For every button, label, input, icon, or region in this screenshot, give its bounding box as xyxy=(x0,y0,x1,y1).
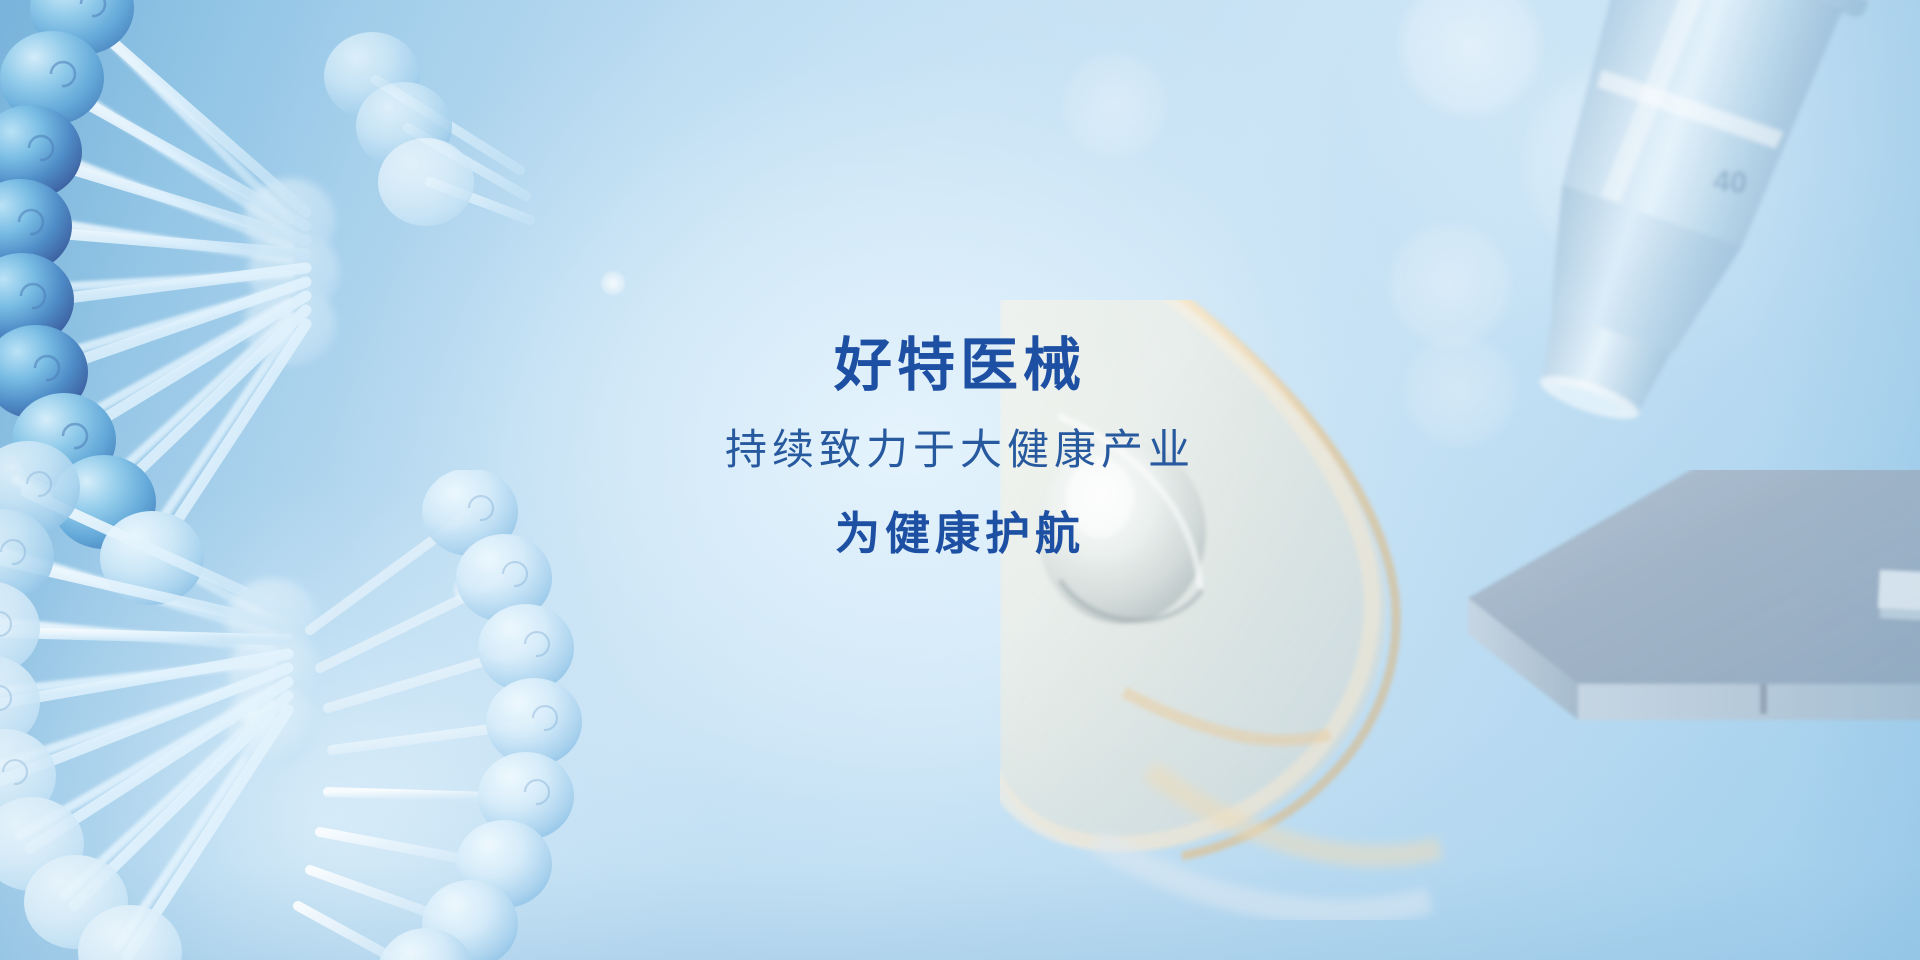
headline-block: 好特医械 持续致力于大健康产业 为健康护航 xyxy=(0,336,1920,559)
page-tagline: 为健康护航 xyxy=(0,509,1920,559)
bokeh-light xyxy=(12,275,46,309)
page-subtitle: 持续致力于大健康产业 xyxy=(0,427,1920,473)
bokeh-light xyxy=(1060,50,1170,160)
bokeh-light xyxy=(1385,220,1515,350)
bokeh-light xyxy=(452,575,482,605)
hero-banner: 40 xyxy=(0,0,1920,960)
page-title: 好特医械 xyxy=(0,336,1920,397)
microscope-magnification-label: 40 xyxy=(1712,164,1748,200)
bokeh-light xyxy=(1395,0,1545,120)
bokeh-light xyxy=(1520,60,1730,270)
bokeh-light xyxy=(236,700,262,726)
bokeh-light xyxy=(600,270,626,296)
